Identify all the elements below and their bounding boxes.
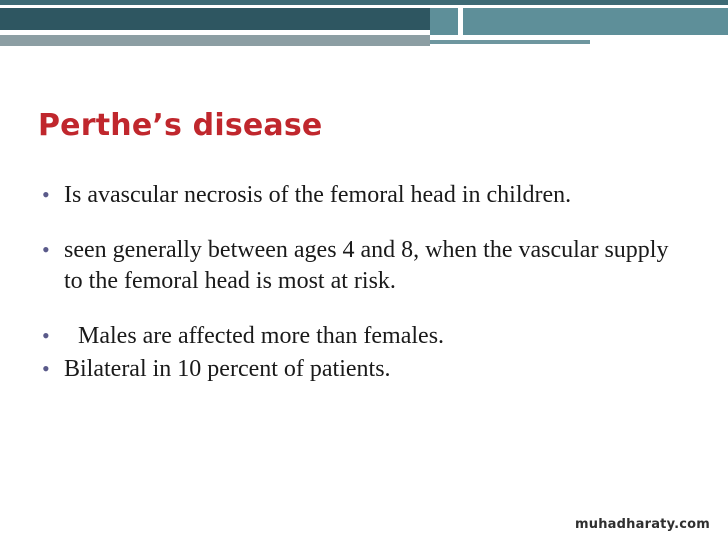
- deco-bar-lower-white: [0, 46, 430, 50]
- deco-bar-teal-thin: [430, 40, 590, 44]
- slide-header-decoration: [0, 0, 728, 70]
- list-item: • Bilateral in 10 percent of patients.: [38, 354, 688, 385]
- bullet-marker-icon: •: [38, 180, 64, 210]
- list-item-text: Is avascular necrosis of the femoral hea…: [64, 180, 688, 211]
- deco-bar-grey: [0, 35, 430, 46]
- footer-watermark: muhadharaty.com: [575, 517, 710, 532]
- deco-bar-dark-left: [0, 8, 430, 30]
- bullet-marker-icon: •: [38, 354, 64, 384]
- deco-bar-teal-right: [430, 8, 728, 35]
- list-item: • seen generally between ages 4 and 8, w…: [38, 235, 688, 297]
- list-item-text: Bilateral in 10 percent of patients.: [64, 354, 688, 385]
- slide-title: Perthe’s disease: [38, 108, 322, 143]
- deco-bar-divider: [458, 8, 463, 35]
- bullet-marker-icon: •: [38, 321, 64, 351]
- bullet-marker-icon: •: [38, 235, 64, 265]
- list-item-text: Males are affected more than females.: [64, 321, 688, 352]
- list-item-text: seen generally between ages 4 and 8, whe…: [64, 235, 688, 297]
- list-item: • Males are affected more than females.: [38, 321, 688, 352]
- slide: Perthe’s disease • Is avascular necrosis…: [0, 0, 728, 546]
- slide-body: • Is avascular necrosis of the femoral h…: [38, 180, 688, 409]
- list-item: • Is avascular necrosis of the femoral h…: [38, 180, 688, 211]
